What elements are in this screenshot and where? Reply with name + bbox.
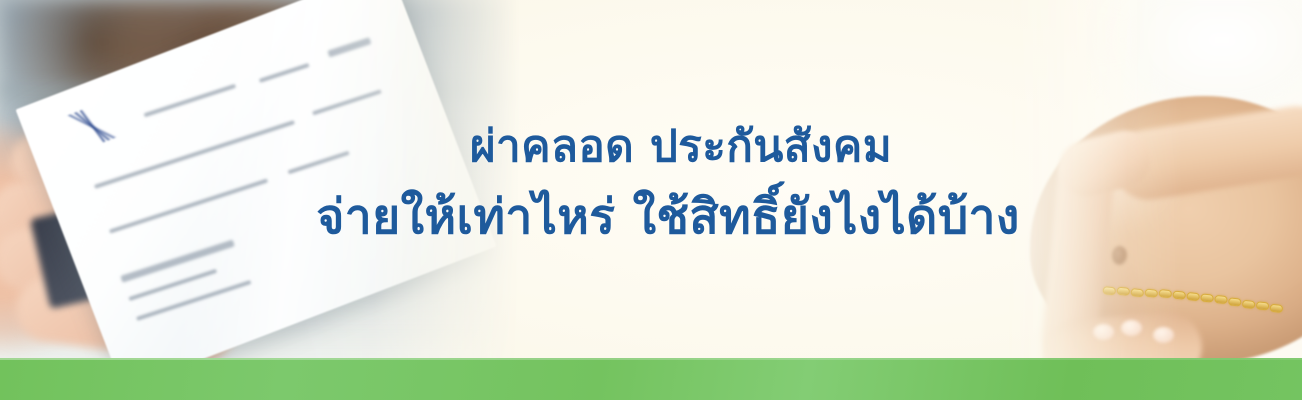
promo-banner: ผ่าคลอด ประกันสังคม จ่ายให้เท่าไหร่ ใช้ส… xyxy=(0,0,1302,400)
fingernail xyxy=(1093,324,1114,340)
photo-hand-passing-document xyxy=(0,0,520,360)
belly-chain-link xyxy=(1242,299,1256,308)
belly-chain-link xyxy=(1214,295,1228,304)
belly-chain-link xyxy=(1102,286,1116,295)
photo-pregnant-belly xyxy=(1002,0,1302,360)
navel xyxy=(1112,246,1127,265)
belly-chain-link xyxy=(1130,288,1144,297)
belly-chain-link xyxy=(1200,293,1214,302)
belly-chain-link xyxy=(1269,304,1283,313)
fingernail xyxy=(1121,320,1142,336)
footer-green-bar-highlight xyxy=(0,358,1302,360)
fingernail xyxy=(1153,327,1174,343)
belly-chain-link xyxy=(1158,289,1172,298)
belly-chain-link xyxy=(1172,291,1186,300)
belly-chain-link xyxy=(1144,288,1158,297)
footer-green-bar xyxy=(0,358,1302,400)
belly-chain-link xyxy=(1228,297,1242,306)
belly-chain-link xyxy=(1186,292,1200,301)
belly-chain-link xyxy=(1116,287,1130,296)
belly-chain-link xyxy=(1256,301,1270,310)
